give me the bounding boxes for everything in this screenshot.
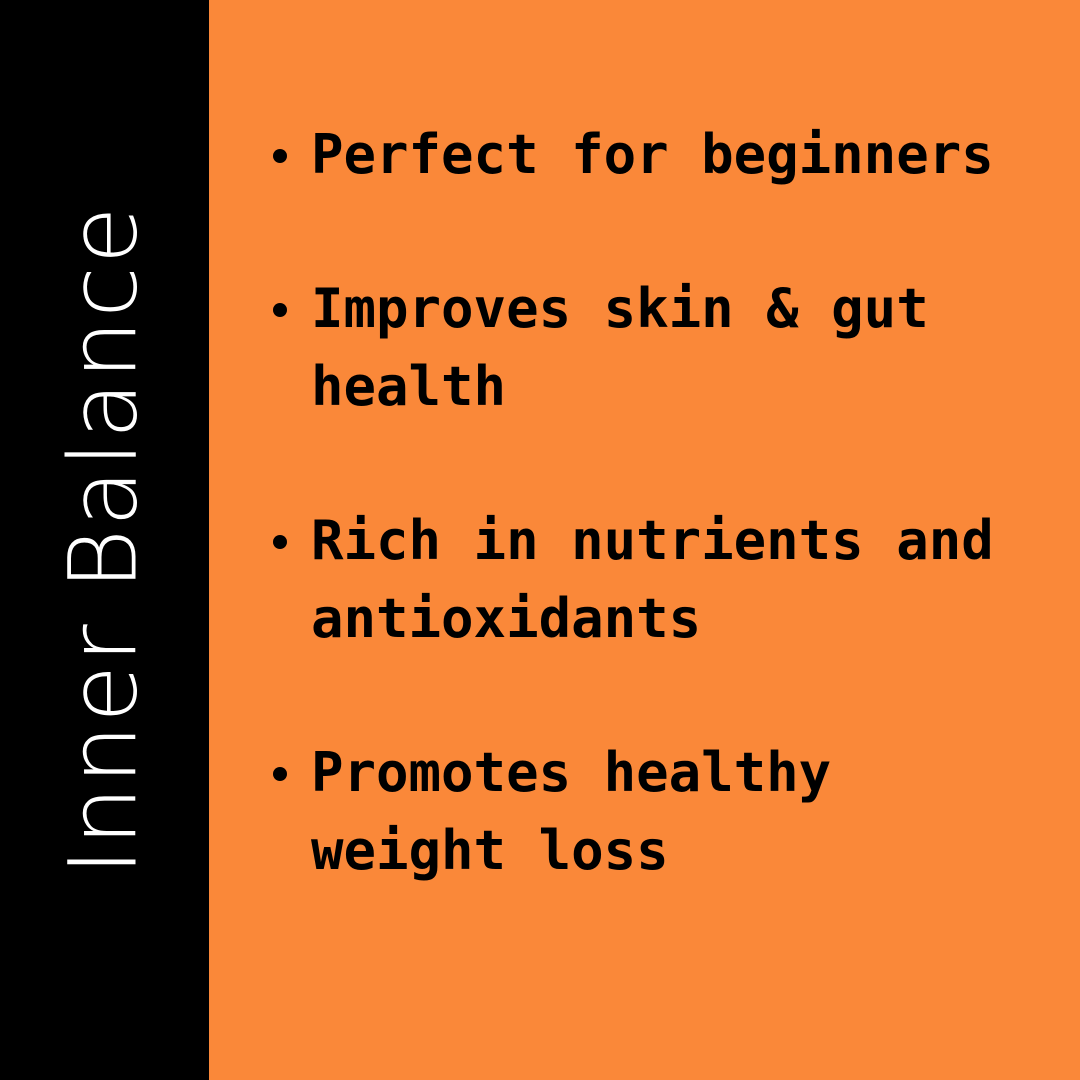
list-item-label: Promotes healthy weight loss bbox=[311, 734, 1067, 890]
list-item: Rich in nutrients and antioxidants bbox=[267, 502, 1067, 658]
list-item: Improves skin & gut health bbox=[267, 270, 1067, 426]
bullet-dot-icon bbox=[273, 535, 287, 549]
brand-title: Inner Balance bbox=[58, 204, 152, 875]
list-item: Perfect for beginners bbox=[267, 116, 1067, 194]
list-item-label: Improves skin & gut health bbox=[311, 270, 1067, 426]
list-item-label: Rich in nutrients and antioxidants bbox=[311, 502, 1067, 658]
content-panel: Perfect for beginners Improves skin & gu… bbox=[209, 0, 1080, 1080]
bullet-dot-icon bbox=[273, 767, 287, 781]
list-item-label: Perfect for beginners bbox=[311, 116, 1067, 194]
list-item: Promotes healthy weight loss bbox=[267, 734, 1067, 890]
bullet-dot-icon bbox=[273, 149, 287, 163]
side-title-wrapper: Inner Balance bbox=[0, 0, 209, 1080]
benefits-list: Perfect for beginners Improves skin & gu… bbox=[267, 116, 1067, 890]
side-panel: Inner Balance bbox=[0, 0, 209, 1080]
bullet-dot-icon bbox=[273, 303, 287, 317]
poster-canvas: Inner Balance Perfect for beginners Impr… bbox=[0, 0, 1080, 1080]
